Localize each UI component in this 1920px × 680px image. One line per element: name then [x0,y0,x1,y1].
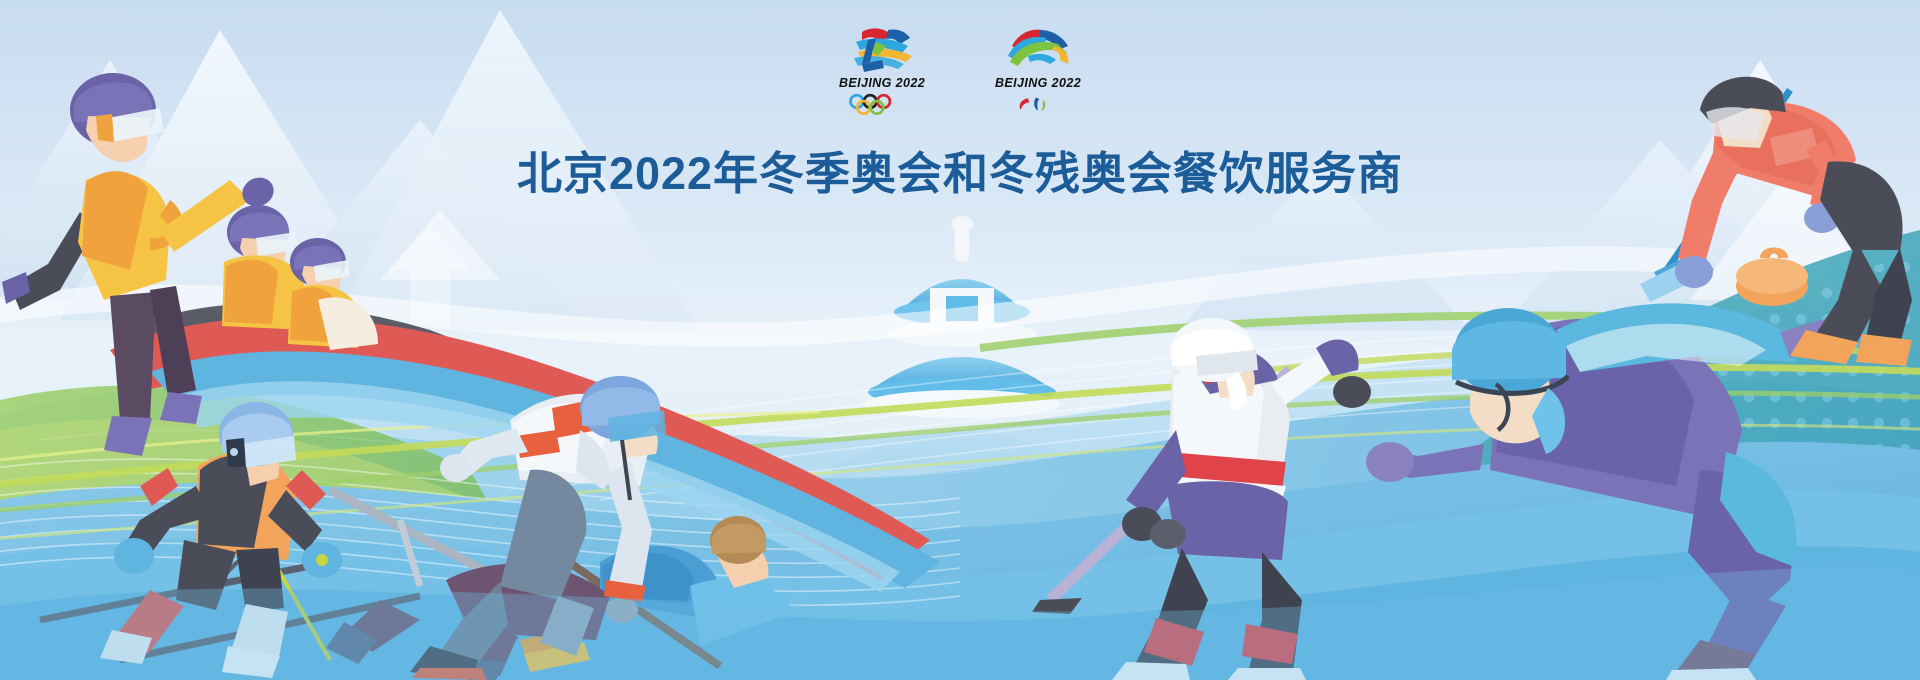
beijing-2022-banner: BEIJING 2022 [0,0,1920,680]
scene-illustration [0,0,1920,680]
